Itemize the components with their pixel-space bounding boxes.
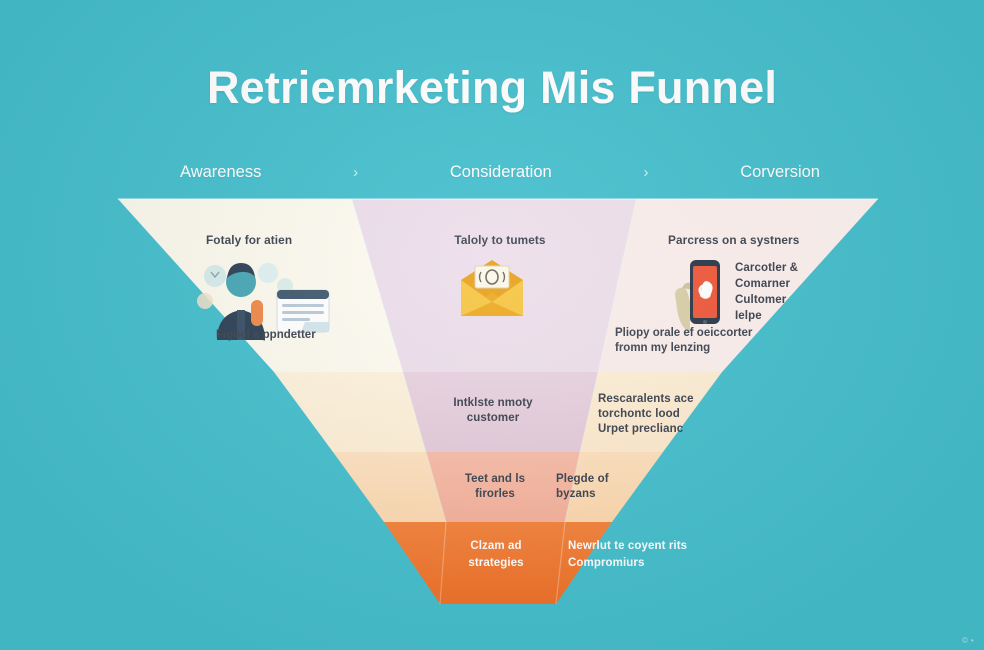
stage-label-conversion: Corversion xyxy=(740,163,820,182)
conversion-row-1: Rescaralents ace torchontc lood Urpet pr… xyxy=(598,392,763,437)
page-title: Retriemrketing Mis Funnel xyxy=(0,62,984,114)
consideration-row-2: Teet and ls firorles xyxy=(436,472,554,502)
awareness-caption: Fignel a ppndetter xyxy=(216,328,426,343)
consideration-row-1: Intklste nmoty customer xyxy=(418,396,568,426)
conversion-icon-text: Carcotler & Comarner Cultomer Ielpe xyxy=(735,260,845,324)
awareness-heading: Fotaly for atien xyxy=(206,233,386,248)
credit-mark: © • xyxy=(962,636,974,645)
stage-label-awareness: Awareness xyxy=(180,163,261,182)
open-envelope-icon xyxy=(453,258,531,325)
consideration-heading: Taloly to tumets xyxy=(400,233,600,248)
conversion-bottom-outer-label: Newrlut te coyent rits Compromiurs xyxy=(568,538,768,572)
infographic-canvas: Retriemrketing Mis Funnel Awareness › Co… xyxy=(0,0,984,650)
conversion-bottom-inner-label: Clzam ad strategies xyxy=(438,538,554,572)
funnel-band2-left xyxy=(274,372,426,452)
conversion-caption: Pliopy orale ef oeiccorter fromn my lenz… xyxy=(615,326,805,356)
conversion-heading: Parcress on a systners xyxy=(668,233,868,248)
conversion-row-2: Plegde of byzans xyxy=(556,472,646,502)
stage-label-consideration: Consideration xyxy=(450,163,552,182)
chevron-right-icon-2: › xyxy=(643,164,648,181)
chevron-right-icon-1: › xyxy=(353,164,358,181)
funnel-stage-strip: Awareness › Consideration › Corversion xyxy=(180,158,820,186)
